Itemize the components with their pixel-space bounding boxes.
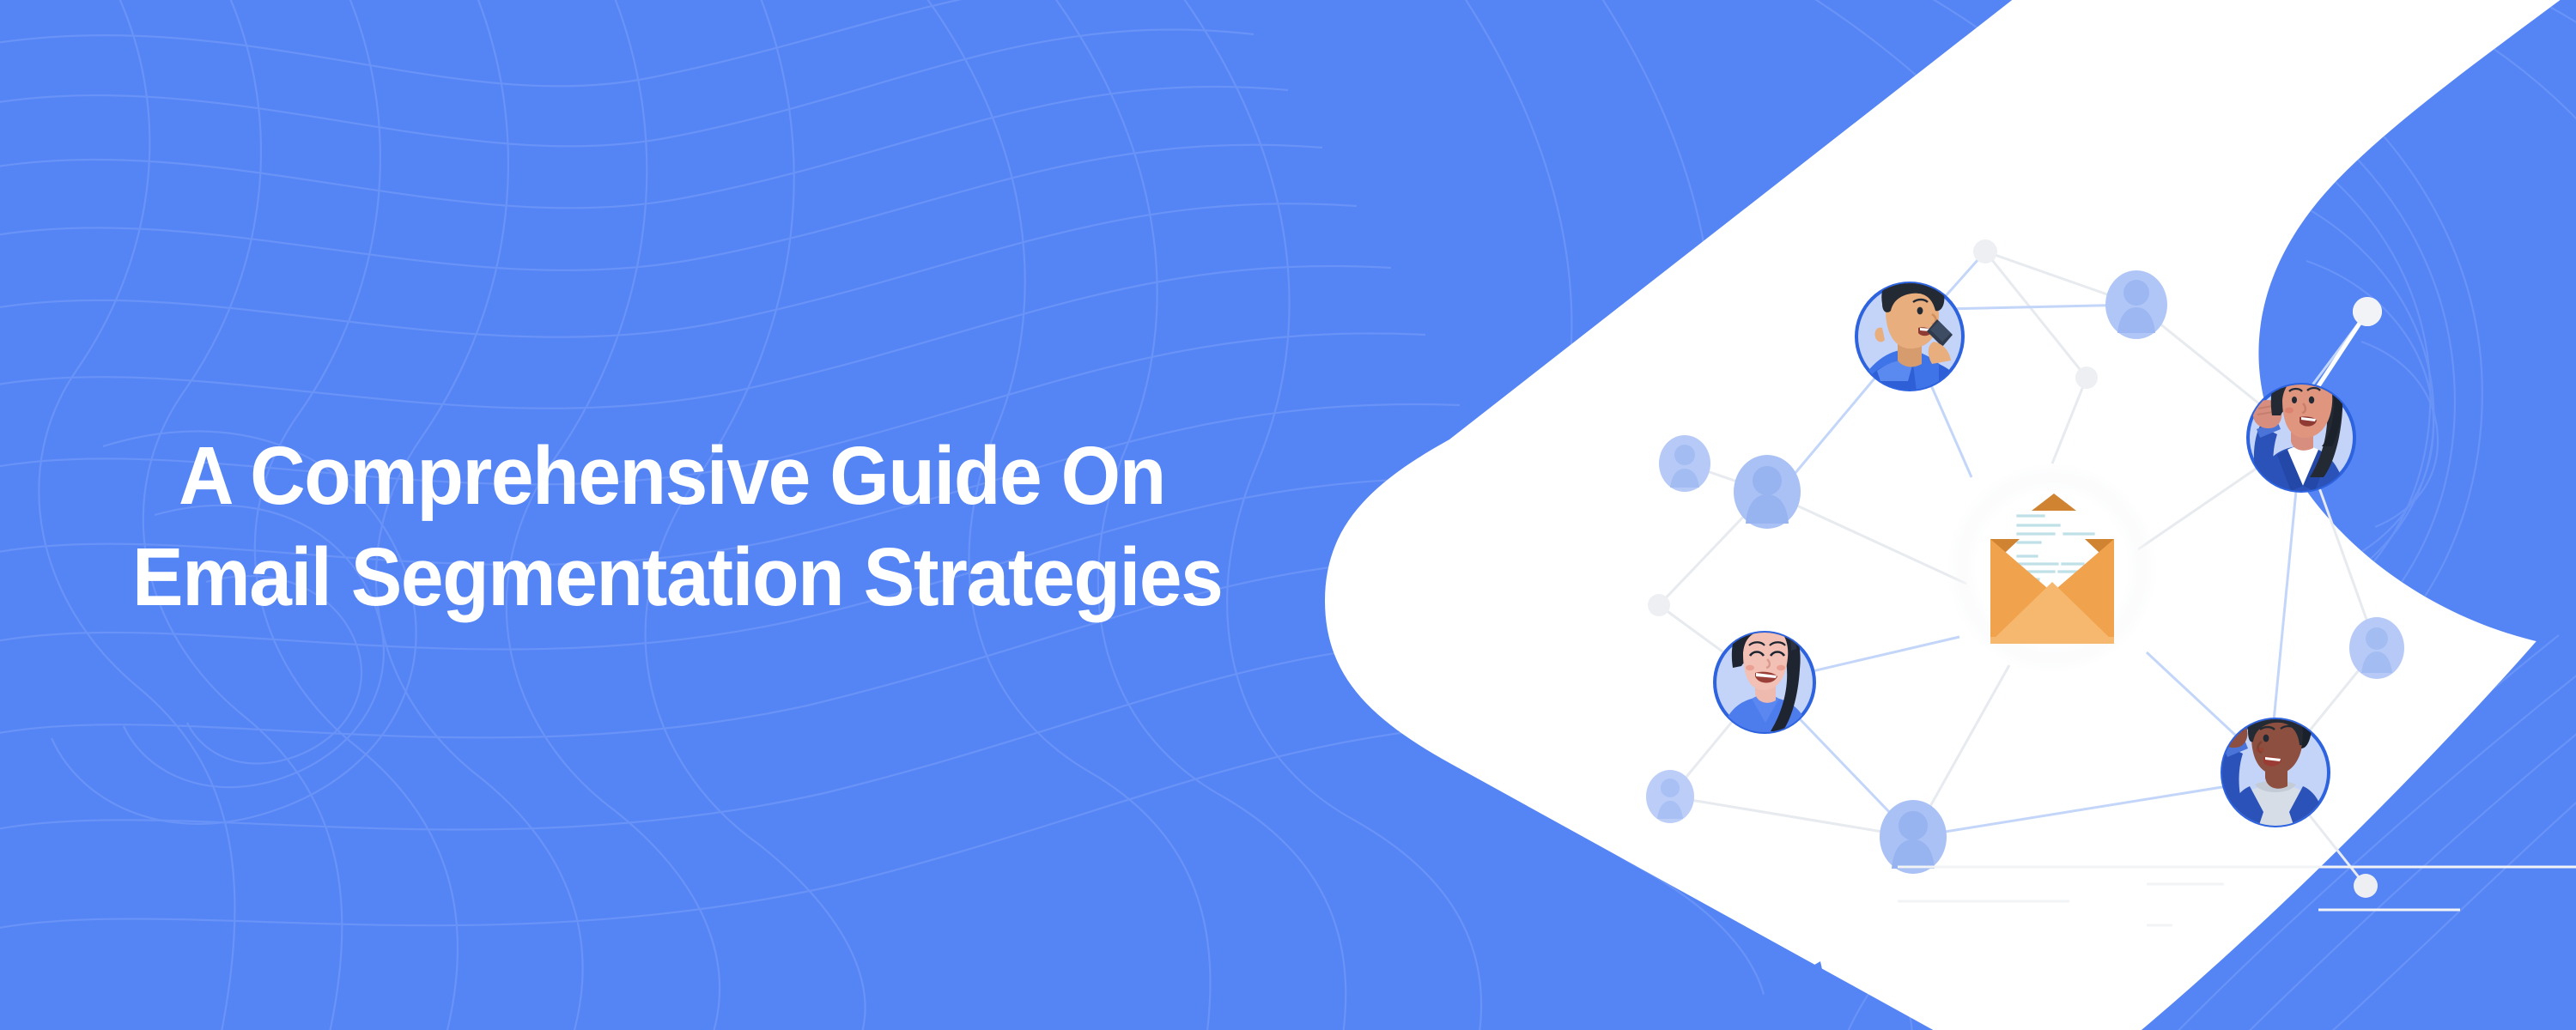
dot-top (1973, 239, 1997, 264)
network-illustration (0, 0, 2576, 1030)
placeholder-bottom (1880, 800, 1947, 874)
placeholder-left-upper (1659, 435, 1710, 492)
placeholder-top-right (2105, 270, 2167, 339)
center-email-node (1947, 463, 2157, 673)
avatar-man-on-phone (1855, 263, 1966, 397)
baseline-strokes (1898, 867, 2576, 925)
hero-banner: A Comprehensive Guide On Email Segmentat… (0, 0, 2576, 1030)
placeholder-right-mid (2349, 617, 2404, 679)
open-envelope-icon (1990, 494, 2114, 644)
placeholder-left-lower (1646, 770, 1694, 823)
dot-upper-mid (2075, 367, 2098, 389)
placeholder-left-mid (1734, 455, 1801, 529)
dot-bottom-right (2354, 874, 2378, 898)
dot-far-right (2353, 297, 2382, 326)
avatar-woman-laughing (1713, 613, 1816, 735)
avatar-woman-cheering (2246, 359, 2356, 493)
dot-left (1648, 594, 1670, 616)
